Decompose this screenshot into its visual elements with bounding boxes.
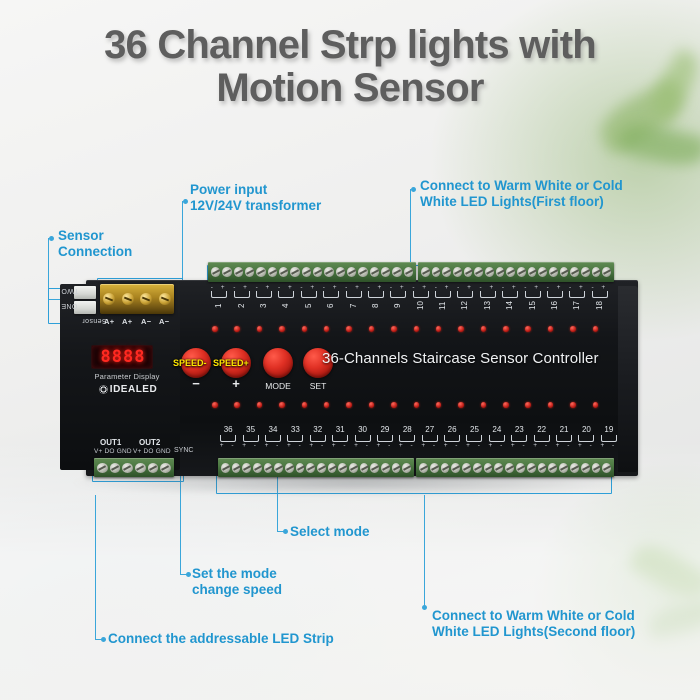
- terminal-screw[interactable]: [462, 463, 471, 473]
- terminal-polarity: - +: [477, 284, 499, 291]
- led-indicator: [503, 326, 509, 332]
- terminal-polarity: + -: [441, 442, 463, 449]
- channel-number: 14: [506, 299, 514, 313]
- terminal-screw[interactable]: [245, 267, 254, 277]
- terminal-polarity: + -: [217, 442, 239, 449]
- terminal-bracket: [466, 435, 482, 442]
- product-name-print: 36-Channels Staircase Sensor Controller: [322, 350, 599, 367]
- terminal-polarity: + -: [307, 442, 329, 449]
- leader-line-first-floor: [410, 189, 411, 267]
- terminal-polarity: + -: [396, 442, 418, 449]
- terminal-bracket: [422, 435, 438, 442]
- leader-dot-select-mode: [283, 529, 288, 534]
- channel-terminal-4[interactable]: - +4: [275, 284, 297, 313]
- channel-terminal-33[interactable]: 33+ -: [284, 425, 306, 449]
- terminal-polarity: + -: [486, 442, 508, 449]
- channel-number: 10: [417, 299, 425, 313]
- terminal-screw[interactable]: [253, 463, 262, 473]
- led-indicator: [257, 402, 263, 408]
- terminal-screw[interactable]: [592, 267, 601, 277]
- channel-terminal-7[interactable]: - +7: [342, 284, 364, 313]
- display-digit: 8: [112, 349, 121, 366]
- terminal-screw[interactable]: [581, 463, 590, 473]
- led-indicator: [369, 402, 375, 408]
- power-label-a-minus-1: A−: [141, 317, 151, 326]
- power-label-a-plus-2: A+: [122, 317, 132, 326]
- channel-terminal-12[interactable]: - +12: [454, 284, 476, 313]
- channel-number: 17: [573, 299, 581, 313]
- channel-terminal-16[interactable]: - +16: [544, 284, 566, 313]
- channel-number: 15: [529, 299, 537, 313]
- channel-number: 25: [463, 425, 485, 435]
- device-right-end-cap: [618, 286, 638, 472]
- terminal-strip-bottom-b[interactable]: [416, 458, 614, 477]
- terminal-screw[interactable]: [360, 463, 369, 473]
- led-indicator: [525, 402, 531, 408]
- channel-number: 36: [217, 425, 239, 435]
- power-label-a-minus-2: A−: [159, 317, 169, 326]
- terminal-screw[interactable]: [485, 267, 494, 277]
- channel-terminal-10[interactable]: - +10: [410, 284, 432, 313]
- terminal-screw[interactable]: [473, 463, 482, 473]
- terminal-bracket: [346, 291, 362, 298]
- terminal-polarity: + -: [351, 442, 373, 449]
- channel-number: 34: [262, 425, 284, 435]
- leader-dot-power: [183, 199, 188, 204]
- terminal-bracket: [502, 291, 518, 298]
- channel-number: 18: [596, 299, 604, 313]
- terminal-polarity: - +: [387, 284, 409, 291]
- terminal-screw[interactable]: [160, 463, 171, 473]
- channel-number: 1: [215, 299, 223, 313]
- terminal-screw[interactable]: [349, 463, 358, 473]
- terminal-screw[interactable]: [570, 463, 579, 473]
- terminal-screw[interactable]: [274, 463, 283, 473]
- terminal-screw[interactable]: [432, 267, 441, 277]
- led-indicator: [525, 326, 531, 332]
- channel-number: 13: [484, 299, 492, 313]
- leader-line-second-floor: [424, 495, 425, 607]
- terminal-screw[interactable]: [392, 267, 401, 277]
- terminal-bracket: [390, 291, 406, 298]
- terminal-screw[interactable]: [347, 267, 356, 277]
- power-screw[interactable]: [140, 293, 152, 305]
- terminal-polarity: - +: [208, 284, 230, 291]
- channel-terminal-23[interactable]: 23+ -: [508, 425, 530, 449]
- terminal-screw[interactable]: [538, 463, 547, 473]
- terminal-strip-top-b[interactable]: [418, 262, 614, 282]
- brand-name: IDEALED: [110, 384, 157, 395]
- terminal-screw[interactable]: [232, 463, 241, 473]
- terminal-polarity: - +: [253, 284, 275, 291]
- terminal-screw[interactable]: [453, 267, 462, 277]
- channel-number: 7: [350, 299, 358, 313]
- led-indicator: [234, 326, 240, 332]
- terminal-screw[interactable]: [602, 463, 611, 473]
- callout-power-input: Power input 12V/24V transformer: [190, 182, 321, 214]
- led-indicator: [302, 326, 308, 332]
- terminal-polarity: - +: [320, 284, 342, 291]
- channel-terminal-17[interactable]: - +17: [566, 284, 588, 313]
- led-indicator: [436, 326, 442, 332]
- channel-number: 4: [282, 299, 290, 313]
- leader-line-strip: [95, 495, 96, 639]
- terminal-polarity: - +: [365, 284, 387, 291]
- terminal-screw[interactable]: [441, 463, 450, 473]
- led-indicator: [324, 402, 330, 408]
- channel-number: 12: [461, 299, 469, 313]
- terminal-screw[interactable]: [559, 463, 568, 473]
- led-indicator: [257, 326, 263, 332]
- channel-terminal-36[interactable]: 36+ -: [217, 425, 239, 449]
- channel-number: 28: [396, 425, 418, 435]
- channel-number: 16: [551, 299, 559, 313]
- led-indicator: [548, 326, 554, 332]
- terminal-bracket: [332, 435, 348, 442]
- terminal-screw[interactable]: [268, 267, 277, 277]
- terminal-screw[interactable]: [560, 267, 569, 277]
- led-indicators-top: [212, 326, 615, 332]
- brand-mark-icon: [99, 385, 108, 394]
- display-digit: 8: [101, 349, 110, 366]
- led-indicator: [481, 402, 487, 408]
- terminal-polarity: + -: [553, 442, 575, 449]
- display-digit: 8: [123, 349, 132, 366]
- led-indicator: [570, 402, 576, 408]
- terminal-screw[interactable]: [474, 267, 483, 277]
- sensor-socket-two-label: TWO: [61, 287, 79, 294]
- led-indicator: [212, 402, 218, 408]
- terminal-polarity: + -: [419, 442, 441, 449]
- channel-terminal-1[interactable]: - +1: [208, 284, 230, 313]
- channel-number: 8: [372, 299, 380, 313]
- terminal-polarity: + -: [374, 442, 396, 449]
- terminal-screw[interactable]: [135, 463, 146, 473]
- controller-device: - +1- +2- +3- +4- +5- +6- +7- +8- +9- +1…: [60, 262, 638, 490]
- terminal-bracket: [368, 291, 384, 298]
- power-input-terminal[interactable]: [100, 284, 174, 314]
- terminal-bracket: [256, 291, 272, 298]
- terminal-screw[interactable]: [324, 267, 333, 277]
- terminal-polarity: - +: [589, 284, 611, 291]
- channel-number: 23: [508, 425, 530, 435]
- channel-terminal-30[interactable]: 30+ -: [351, 425, 373, 449]
- channel-terminal-6[interactable]: - +6: [320, 284, 342, 313]
- callout-second-floor: Connect to Warm White or Cold White LED …: [432, 608, 635, 640]
- terminal-screw[interactable]: [279, 267, 288, 277]
- led-indicator: [414, 402, 420, 408]
- terminal-bracket: [399, 435, 415, 442]
- channel-number: 9: [394, 299, 402, 313]
- terminal-screw[interactable]: [381, 267, 390, 277]
- channel-number: 19: [598, 425, 620, 435]
- power-screw[interactable]: [103, 293, 115, 305]
- terminal-screw[interactable]: [296, 463, 305, 473]
- terminal-screw[interactable]: [264, 463, 273, 473]
- callout-first-floor: Connect to Warm White or Cold White LED …: [420, 178, 623, 210]
- terminal-screw[interactable]: [602, 267, 611, 277]
- terminal-screw[interactable]: [528, 267, 537, 277]
- terminal-polarity: - +: [298, 284, 320, 291]
- channel-terminal-9[interactable]: - +9: [387, 284, 409, 313]
- led-indicator: [324, 326, 330, 332]
- channel-terminal-35[interactable]: 35+ -: [239, 425, 261, 449]
- parameter-display-label: Parameter Display: [90, 372, 164, 381]
- terminal-bracket: [592, 291, 608, 298]
- channel-number: 5: [305, 299, 313, 313]
- terminal-bracket: [310, 435, 326, 442]
- terminal-polarity: - +: [566, 284, 588, 291]
- terminal-screw[interactable]: [496, 267, 505, 277]
- terminal-bracket: [489, 435, 505, 442]
- terminal-screw[interactable]: [256, 267, 265, 277]
- terminal-bracket: [413, 291, 429, 298]
- channel-terminal-22[interactable]: 22+ -: [530, 425, 552, 449]
- channel-number: 6: [327, 299, 335, 313]
- led-indicator: [458, 402, 464, 408]
- leader-dot-first-floor: [411, 187, 416, 192]
- title-line-1: 36 Channel Strp lights with: [104, 23, 596, 67]
- title-line-2: Motion Sensor: [0, 67, 700, 110]
- terminal-screw[interactable]: [402, 463, 411, 473]
- terminal-bracket: [211, 291, 227, 298]
- terminal-bracket: [511, 435, 527, 442]
- callout-sensor-connection: Sensor Connection: [58, 228, 132, 260]
- terminal-screw[interactable]: [338, 463, 347, 473]
- out2-label: OUT2: [139, 438, 160, 447]
- terminal-screw[interactable]: [464, 267, 473, 277]
- out1-pins: V+ DO GND: [94, 448, 132, 455]
- channel-terminal-11[interactable]: - +11: [432, 284, 454, 313]
- terminal-screw[interactable]: [421, 267, 430, 277]
- terminal-screw[interactable]: [581, 267, 590, 277]
- terminal-screw[interactable]: [404, 267, 413, 277]
- terminal-screw[interactable]: [451, 463, 460, 473]
- display-digit: 8: [134, 349, 143, 366]
- channel-number: 35: [239, 425, 261, 435]
- channel-terminal-21[interactable]: 21+ -: [553, 425, 575, 449]
- terminal-strip-top-a[interactable]: [208, 262, 416, 282]
- terminal-polarity: - +: [544, 284, 566, 291]
- terminal-strip-addressable[interactable]: [94, 458, 174, 477]
- led-indicator: [458, 326, 464, 332]
- led-indicators-bottom: [212, 402, 615, 408]
- terminal-screw[interactable]: [306, 463, 315, 473]
- terminal-screw[interactable]: [97, 463, 108, 473]
- terminal-screw[interactable]: [370, 267, 379, 277]
- led-indicator: [436, 402, 442, 408]
- led-indicator: [346, 402, 352, 408]
- terminal-screw[interactable]: [494, 463, 503, 473]
- channel-terminal-2[interactable]: - +2: [230, 284, 252, 313]
- terminal-screw[interactable]: [328, 463, 337, 473]
- terminal-polarity: + -: [530, 442, 552, 449]
- terminal-bracket: [444, 435, 460, 442]
- channel-terminal-31[interactable]: 31+ -: [329, 425, 351, 449]
- led-indicator: [414, 326, 420, 332]
- terminal-screw[interactable]: [234, 267, 243, 277]
- led-indicator: [391, 402, 397, 408]
- channel-number: 20: [575, 425, 597, 435]
- led-indicator: [234, 402, 240, 408]
- channel-terminal-32[interactable]: 32+ -: [307, 425, 329, 449]
- channel-terminal-13[interactable]: - +13: [477, 284, 499, 313]
- channel-terminal-18[interactable]: - +18: [589, 284, 611, 313]
- terminal-bracket: [323, 291, 339, 298]
- terminal-bracket: [265, 435, 281, 442]
- page-title: 36 Channel Strp lights with Motion Senso…: [0, 24, 700, 110]
- channel-number: 29: [374, 425, 396, 435]
- terminal-screw[interactable]: [442, 267, 451, 277]
- led-indicator: [279, 326, 285, 332]
- terminal-polarity: - +: [410, 284, 432, 291]
- channel-terminal-27[interactable]: 27+ -: [419, 425, 441, 449]
- mode-button[interactable]: [263, 348, 293, 378]
- channel-terminal-26[interactable]: 26+ -: [441, 425, 463, 449]
- channel-number: 32: [307, 425, 329, 435]
- terminal-screw[interactable]: [538, 267, 547, 277]
- brand-logo: IDEALED: [88, 383, 168, 396]
- terminal-polarity: - +: [499, 284, 521, 291]
- terminal-screw[interactable]: [592, 463, 601, 473]
- callout-set-speed: Set the mode change speed: [192, 566, 282, 598]
- channel-number: 22: [530, 425, 552, 435]
- terminal-polarity: + -: [329, 442, 351, 449]
- terminal-screw[interactable]: [148, 463, 159, 473]
- terminal-screw[interactable]: [516, 463, 525, 473]
- parameter-display: 8888: [91, 345, 153, 369]
- leader-dot-second-floor: [422, 605, 427, 610]
- leader-dot-sensor: [49, 236, 54, 241]
- terminal-screw[interactable]: [527, 463, 536, 473]
- set-button-caption: SET: [301, 381, 335, 391]
- leader-dot-set-speed: [186, 572, 191, 577]
- channel-number: 33: [284, 425, 306, 435]
- channel-number: 30: [351, 425, 373, 435]
- terminal-polarity: + -: [508, 442, 530, 449]
- channel-terminal-15[interactable]: - +15: [521, 284, 543, 313]
- sensor-side-label: Sensor: [82, 317, 107, 324]
- terminal-bracket: [243, 435, 259, 442]
- channel-terminal-19[interactable]: 19+ -: [598, 425, 620, 449]
- terminal-screw[interactable]: [484, 463, 493, 473]
- channel-terminal-20[interactable]: 20+ -: [575, 425, 597, 449]
- power-screw[interactable]: [122, 293, 134, 305]
- channel-terminal-24[interactable]: 24+ -: [486, 425, 508, 449]
- terminal-screw[interactable]: [419, 463, 428, 473]
- channel-number: 21: [553, 425, 575, 435]
- terminal-screw[interactable]: [290, 267, 299, 277]
- terminal-screw[interactable]: [505, 463, 514, 473]
- channel-terminal-5[interactable]: - +5: [298, 284, 320, 313]
- terminal-screw[interactable]: [211, 267, 220, 277]
- led-indicator: [346, 326, 352, 332]
- terminal-bracket: [287, 435, 303, 442]
- terminal-screw[interactable]: [570, 267, 579, 277]
- terminal-screw[interactable]: [549, 267, 558, 277]
- terminal-screw[interactable]: [110, 463, 121, 473]
- terminal-screw[interactable]: [548, 463, 557, 473]
- terminal-bracket: [601, 435, 617, 442]
- terminal-screw[interactable]: [506, 267, 515, 277]
- speed-up-symbol: +: [219, 376, 253, 391]
- terminal-polarity: + -: [239, 442, 261, 449]
- led-indicator: [593, 326, 599, 332]
- terminal-screw[interactable]: [285, 463, 294, 473]
- led-indicator: [481, 326, 487, 332]
- plant-leaf-decor: [617, 118, 700, 172]
- terminal-screw[interactable]: [392, 463, 401, 473]
- channel-number: 11: [439, 299, 447, 313]
- terminal-screw[interactable]: [221, 463, 230, 473]
- terminal-polarity: + -: [284, 442, 306, 449]
- out1-label: OUT1: [100, 438, 121, 447]
- channel-terminal-14[interactable]: - +14: [499, 284, 521, 313]
- channel-terminal-34[interactable]: 34+ -: [262, 425, 284, 449]
- terminal-screw[interactable]: [242, 463, 251, 473]
- channel-number: 2: [238, 299, 246, 313]
- channel-number: 27: [419, 425, 441, 435]
- led-indicator: [593, 402, 599, 408]
- terminal-screw[interactable]: [317, 463, 326, 473]
- channel-terminal-29[interactable]: 29+ -: [374, 425, 396, 449]
- top-channel-labels: - +1- +2- +3- +4- +5- +6- +7- +8- +9- +1…: [208, 284, 611, 313]
- power-label-a-plus-1: A+: [104, 317, 114, 326]
- led-indicator: [302, 402, 308, 408]
- leader-dot-strip: [101, 637, 106, 642]
- terminal-polarity: - +: [432, 284, 454, 291]
- terminal-screw[interactable]: [381, 463, 390, 473]
- terminal-polarity: + -: [598, 442, 620, 449]
- terminal-screw[interactable]: [358, 267, 367, 277]
- terminal-polarity: - +: [521, 284, 543, 291]
- terminal-screw[interactable]: [302, 267, 311, 277]
- channel-terminal-25[interactable]: 25+ -: [463, 425, 485, 449]
- callout-addressable-strip: Connect the addressable LED Strip: [108, 631, 334, 647]
- terminal-screw[interactable]: [313, 267, 322, 277]
- terminal-strip-bottom-a[interactable]: [218, 458, 414, 477]
- terminal-screw[interactable]: [430, 463, 439, 473]
- terminal-polarity: - +: [230, 284, 252, 291]
- callout-select-mode: Select mode: [290, 524, 370, 540]
- terminal-bracket: [556, 435, 572, 442]
- channel-number: 31: [329, 425, 351, 435]
- terminal-bracket: [525, 291, 541, 298]
- speed-down-symbol: −: [179, 376, 213, 391]
- terminal-screw[interactable]: [336, 267, 345, 277]
- led-indicator: [369, 326, 375, 332]
- led-indicator: [570, 326, 576, 332]
- power-screw[interactable]: [159, 293, 171, 305]
- terminal-polarity: - +: [454, 284, 476, 291]
- terminal-screw[interactable]: [517, 267, 526, 277]
- led-indicator: [212, 326, 218, 332]
- terminal-screw[interactable]: [370, 463, 379, 473]
- terminal-screw[interactable]: [222, 267, 231, 277]
- terminal-bracket: [480, 291, 496, 298]
- terminal-bracket: [457, 291, 473, 298]
- bottom-channel-labels: 36+ -35+ -34+ -33+ -32+ -31+ -30+ -29+ -…: [217, 425, 620, 449]
- terminal-bracket: [278, 291, 294, 298]
- speed-down-tag: SPEED-: [173, 358, 207, 368]
- channel-terminal-8[interactable]: - +8: [365, 284, 387, 313]
- channel-terminal-28[interactable]: 28+ -: [396, 425, 418, 449]
- terminal-screw[interactable]: [122, 463, 133, 473]
- terminal-bracket: [547, 291, 563, 298]
- led-indicator: [503, 402, 509, 408]
- terminal-polarity: + -: [262, 442, 284, 449]
- channel-terminal-3[interactable]: - +3: [253, 284, 275, 313]
